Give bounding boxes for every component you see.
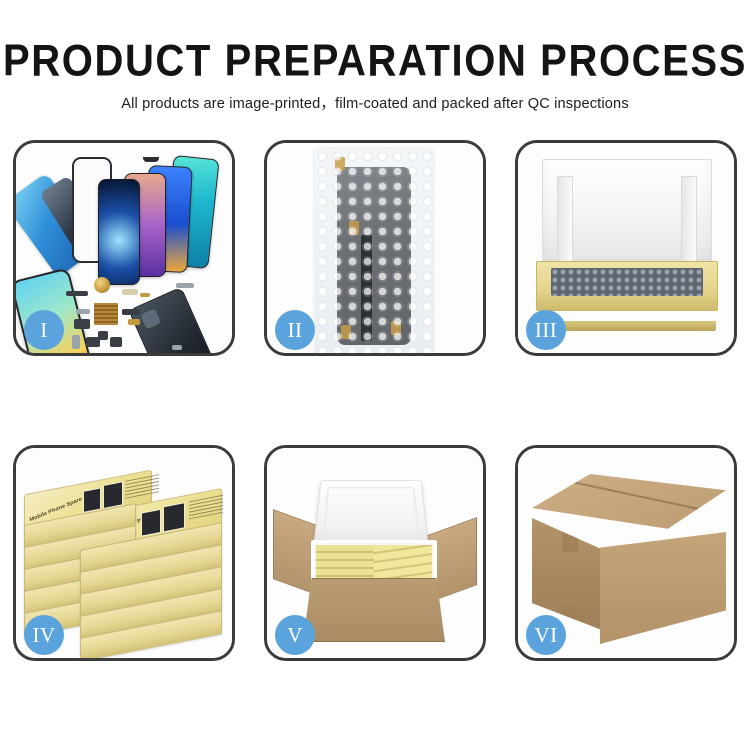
wrapped-flex-cable-icon <box>361 235 372 341</box>
flex-cable-icon <box>76 309 90 314</box>
box-tape-upper <box>562 532 578 552</box>
step-panel-6[interactable]: VI <box>515 445 737 661</box>
step-panel-5[interactable]: V <box>264 445 486 661</box>
button-flex-icon <box>86 337 100 347</box>
box-spec-lines-a <box>125 474 159 499</box>
bubble-bag-icon <box>315 149 433 353</box>
box-left-face <box>532 518 602 630</box>
shipping-box-icon <box>532 474 726 644</box>
speaker-part-icon <box>94 277 110 293</box>
screw-strip-icon <box>140 293 150 297</box>
kraft-tray-icon <box>536 261 718 311</box>
box-window-a1 <box>83 487 101 512</box>
box-spec-lines-b <box>189 495 223 520</box>
lid-left-flap-icon <box>557 176 573 262</box>
contact-pad-icon <box>128 319 140 325</box>
process-steps-grid: I II <box>13 140 737 675</box>
lid-right-flap-icon <box>681 176 697 262</box>
step-badge-6: VI <box>526 615 566 655</box>
step-panel-2[interactable]: II <box>264 140 486 356</box>
step-badge-2: II <box>275 310 315 350</box>
mic-module-icon <box>110 337 122 347</box>
phone-2-icon <box>98 179 140 285</box>
box-right-face <box>600 532 726 644</box>
box-window-b1 <box>141 509 161 537</box>
tool-icon <box>176 283 194 288</box>
box-window-a2 <box>103 481 123 509</box>
box-window-b2 <box>163 502 185 532</box>
shield-mesh-icon <box>94 303 118 325</box>
step-badge-4: IV <box>24 615 64 655</box>
step-badge-5: V <box>275 615 315 655</box>
carton-front-panel-icon <box>303 578 445 642</box>
tape-tab-bottom-left-icon <box>341 325 351 339</box>
page-title: PRODUCT PREPARATION PROCESS <box>0 34 750 88</box>
screwdriver-tip-icon <box>172 345 182 350</box>
tape-tab-mid-icon <box>349 221 359 235</box>
camera-module-icon <box>74 319 90 329</box>
step-panel-3[interactable]: III <box>515 140 737 356</box>
tape-tab-bottom-right-icon <box>391 321 401 335</box>
ribbon-cable-icon <box>122 309 140 315</box>
bracket-part-icon <box>66 291 88 296</box>
wrapped-screen-icon <box>337 167 411 345</box>
box-top-seam <box>559 478 706 511</box>
bubble-filler-icon <box>551 268 703 296</box>
foam-lid-icon <box>313 480 429 549</box>
sim-tray-icon <box>72 335 80 349</box>
white-lid-icon <box>542 159 712 269</box>
step-panel-4[interactable]: Mobile Phone Spare Parts Mobile Phone Sp… <box>13 445 235 661</box>
page-subtitle: All products are image-printed，film-coat… <box>0 92 750 113</box>
step-panel-1[interactable]: I <box>13 140 235 356</box>
product-preparation-page: PRODUCT PREPARATION PROCESS All products… <box>0 0 750 750</box>
step-badge-1: I <box>24 310 64 350</box>
spare-parts-cluster <box>72 275 202 353</box>
page-header: PRODUCT PREPARATION PROCESS All products… <box>0 34 750 113</box>
connector-part-icon <box>122 289 138 295</box>
tape-tab-top-icon <box>335 157 345 171</box>
step-badge-3: III <box>526 310 566 350</box>
